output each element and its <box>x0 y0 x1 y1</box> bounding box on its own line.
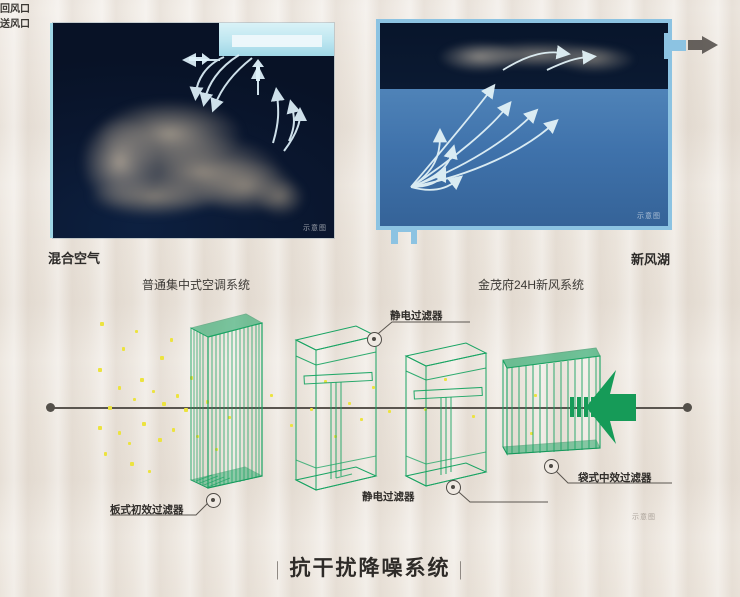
return-duct-neck <box>664 33 670 59</box>
title-rule-right: | <box>451 558 473 580</box>
callout-marker-bag-filter[interactable] <box>544 459 559 474</box>
return-duct <box>668 40 686 51</box>
diagram-watermark: 示意图 <box>632 512 656 522</box>
title-rule-left: | <box>267 558 289 580</box>
airflow-arrows-right <box>380 23 668 226</box>
callout-marker-electrostatic-1[interactable] <box>367 332 382 347</box>
panel-right-watermark: 示意图 <box>637 211 661 221</box>
label-bag-medium-filter: 袋式中效过滤器 <box>578 470 652 485</box>
caption-fresh-air-lake: 新风湖 <box>631 249 670 268</box>
panel-mixed-air: 示意图 <box>53 23 334 238</box>
bottom-title-text: 抗干扰降噪系统 <box>290 556 451 580</box>
airflow-arrows-left <box>53 23 334 238</box>
label-electrostatic-filter-2: 静电过滤器 <box>362 489 415 504</box>
caption-mixed-air: 混合空气 <box>48 248 100 267</box>
filtration-diagram: 板式初效过滤器 静电过滤器 静电过滤器 袋式中效过滤器 示意图 <box>0 290 740 540</box>
panel-fresh-air-lake: 示意图 <box>380 23 668 226</box>
callout-marker-pre-filter[interactable] <box>206 493 221 508</box>
panel-left-watermark: 示意图 <box>303 223 327 233</box>
page-root: 示意图 混合空气 普通集中式空调系统 <box>0 0 740 597</box>
label-return-vent: 回风口 <box>0 0 740 15</box>
label-pre-filter: 板式初效过滤器 <box>110 502 184 517</box>
supply-duct-right <box>411 226 417 244</box>
bottom-title: |抗干扰降噪系统| <box>0 552 740 582</box>
label-electrostatic-filter-1: 静电过滤器 <box>390 308 443 323</box>
filter-electrostatic-2-wireframe <box>406 343 486 486</box>
return-air-arrow-icon <box>688 36 722 56</box>
filter-pre-wireframe <box>191 314 262 488</box>
filter-electrostatic-1-wireframe <box>296 326 376 490</box>
callout-marker-electrostatic-2[interactable] <box>446 480 461 495</box>
